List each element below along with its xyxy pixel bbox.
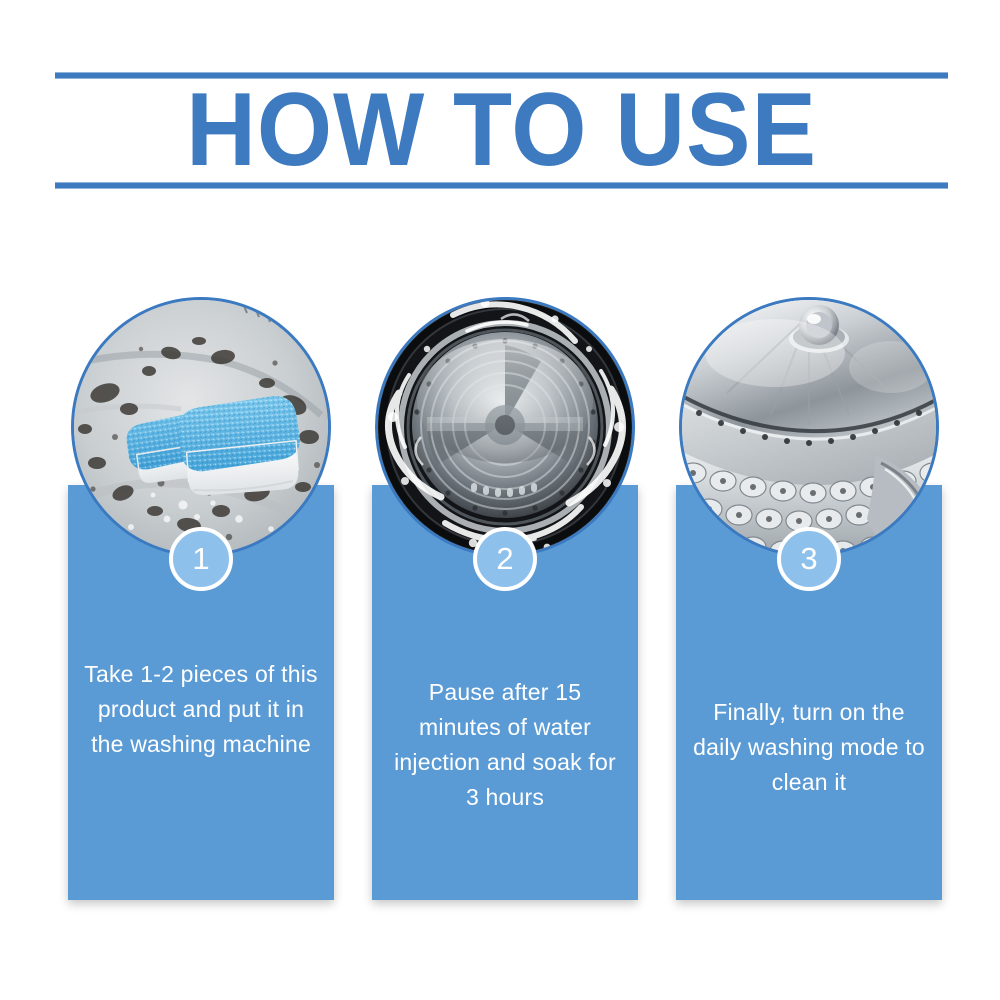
step-badge-2: 2 [473, 527, 537, 591]
effervescent-tablets-on-dirty-washer-photo [71, 297, 331, 557]
step-badge-1: 1 [169, 527, 233, 591]
washing-machine-drum-water-splash-photo [375, 297, 635, 557]
steps-container: 1 Take 1-2 pieces of this product and pu… [0, 0, 1000, 1000]
how-to-use-infographic: HOW TO USE [0, 0, 1000, 1000]
step-text-1: Take 1-2 pieces of this product and put … [82, 657, 320, 762]
stainless-steel-drum-interior-photo [679, 297, 939, 557]
step-text-2: Pause after 15 minutes of water injectio… [386, 675, 624, 815]
step-badge-3: 3 [777, 527, 841, 591]
step-text-3: Finally, turn on the daily washing mode … [690, 695, 928, 800]
